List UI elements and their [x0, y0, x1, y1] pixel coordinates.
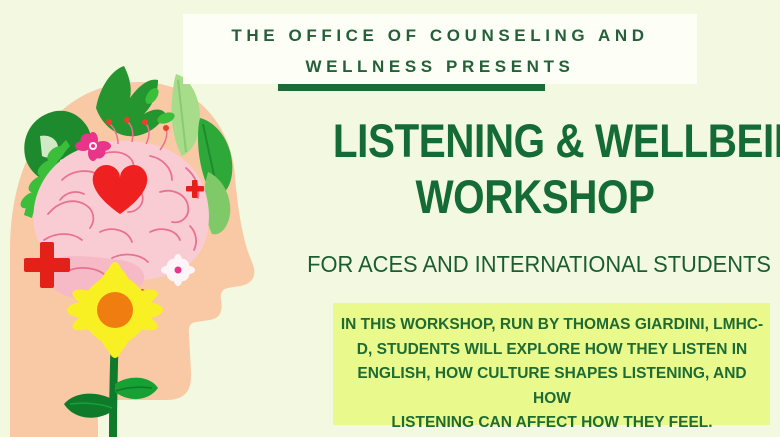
header-divider-rule [278, 84, 545, 91]
page-title: LISTENING & WELLBEING WORKSHOP [333, 113, 737, 225]
title-line-2: WORKSHOP [333, 169, 737, 225]
page-subtitle: FOR ACES AND INTERNATIONAL STUDENTS [307, 251, 768, 278]
description-line-3: ENGLISH, HOW CULTURE SHAPES LISTENING, A… [340, 362, 764, 411]
poster-canvas: THE OFFICE OF COUNSELING AND WELLNESS PR… [0, 0, 780, 437]
title-line-1: LISTENING & WELLBEING [333, 113, 737, 169]
description-text: IN THIS WORKSHOP, RUN BY THOMAS GIARDINI… [340, 313, 764, 436]
description-line-2: D, STUDENTS WILL EXPLORE HOW THEY LISTEN… [340, 338, 764, 363]
header-line-2: WELLNESS PRESENTS [183, 51, 697, 82]
header-line-1: THE OFFICE OF COUNSELING AND [183, 20, 697, 51]
description-line-1: IN THIS WORKSHOP, RUN BY THOMAS GIARDINI… [340, 313, 764, 338]
header-presenter-text: THE OFFICE OF COUNSELING AND WELLNESS PR… [183, 20, 697, 82]
description-line-4: LISTENING CAN AFFECT HOW THEY FEEL. [340, 411, 764, 436]
